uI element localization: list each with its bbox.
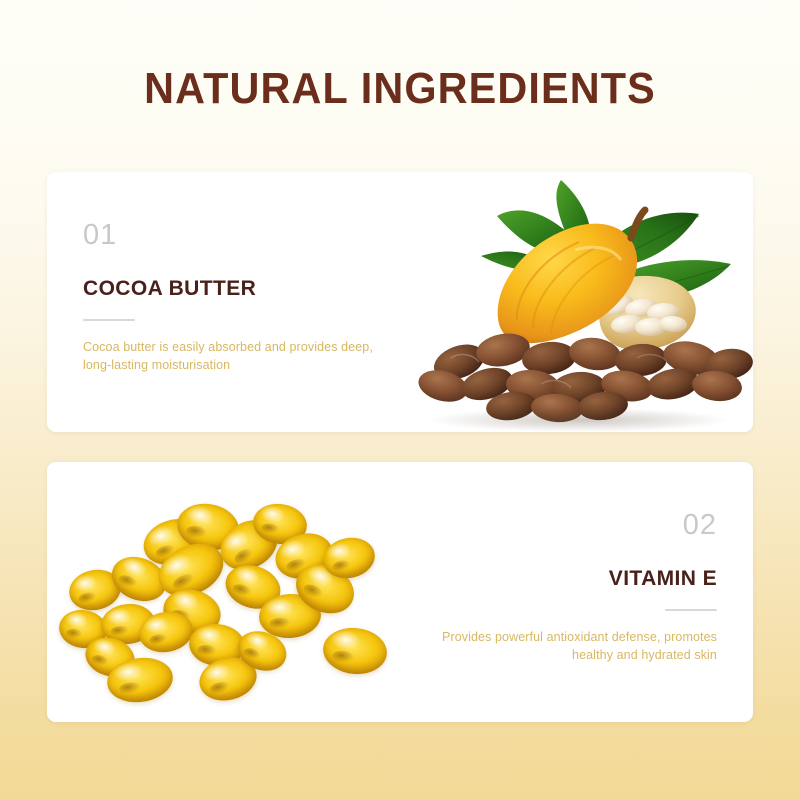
cocoa-pod-and-beans-image: [399, 172, 753, 432]
card-text-block: 01 COCOA BUTTER Cocoa butter is easily a…: [47, 172, 399, 432]
card-number: 01: [83, 219, 117, 252]
softgel-capsule-group: [47, 462, 401, 722]
ingredient-card-vitamin-e[interactable]: 02 VITAMIN E Provides powerful antioxida…: [47, 462, 753, 722]
card-heading: VITAMIN E: [609, 567, 717, 591]
cocoa-illustration: [399, 172, 753, 432]
card-description: Provides powerful antioxidant defense, p…: [427, 628, 717, 664]
card-heading: COCOA BUTTER: [83, 277, 256, 301]
capsule: [321, 625, 389, 677]
page-title: NATURAL INGREDIENTS: [24, 64, 776, 114]
card-description: Cocoa butter is easily absorbed and prov…: [83, 338, 373, 374]
card-divider: [665, 609, 717, 611]
card-text-block: 02 VITAMIN E Provides powerful antioxida…: [401, 462, 753, 722]
card-number: 02: [683, 509, 717, 542]
vitamin-e-softgel-capsules-image: [47, 462, 401, 722]
ingredient-card-cocoa-butter[interactable]: 01 COCOA BUTTER Cocoa butter is easily a…: [47, 172, 753, 432]
card-divider: [83, 319, 135, 321]
